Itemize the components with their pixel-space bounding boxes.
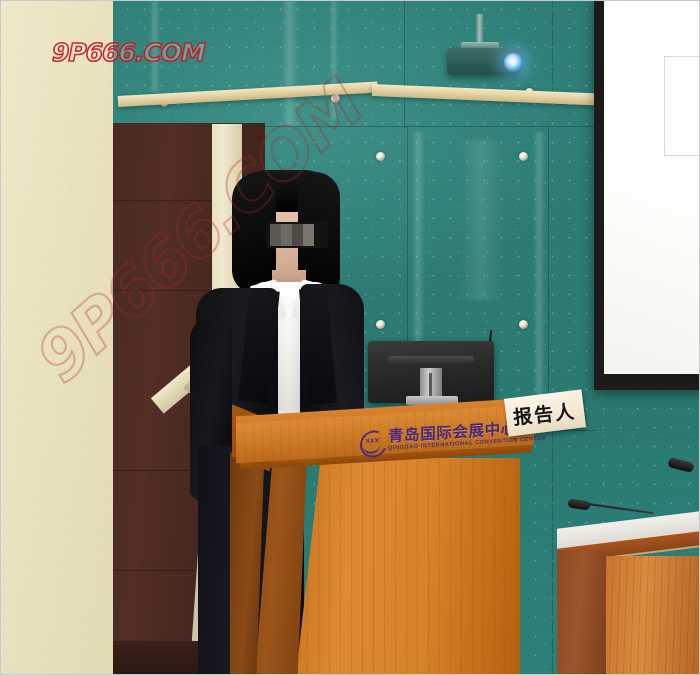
glass-standoff-icon <box>376 152 385 161</box>
glass-seam <box>548 126 549 426</box>
glass-seam <box>552 0 553 92</box>
projection-screen-content <box>664 56 700 156</box>
convention-center-logo-icon: xxx <box>360 429 383 453</box>
projector-lamp-icon <box>504 53 523 72</box>
conference-table-front <box>557 551 606 675</box>
speaker-name-card-text: 报告人 <box>512 396 577 429</box>
glass-standoff-icon <box>519 320 528 329</box>
glass-seam <box>552 430 553 675</box>
top-watermark: 9P666.COM <box>52 38 205 67</box>
glass-reflection <box>460 140 504 300</box>
glass-seam <box>404 0 405 128</box>
glass-standoff-icon <box>376 320 385 329</box>
face-redaction-pixels <box>270 224 314 246</box>
glass-standoff-icon <box>519 152 528 161</box>
podium-body-grain <box>296 458 520 675</box>
conference-photo: xxx 青岛国际会展中心 QINGDAO INTERNATIONAL CONVE… <box>0 0 700 675</box>
monitor-vent <box>388 356 474 364</box>
projector-mount-pole <box>476 14 483 44</box>
glass-reflection <box>534 132 545 420</box>
conference-table-grain <box>606 556 700 675</box>
